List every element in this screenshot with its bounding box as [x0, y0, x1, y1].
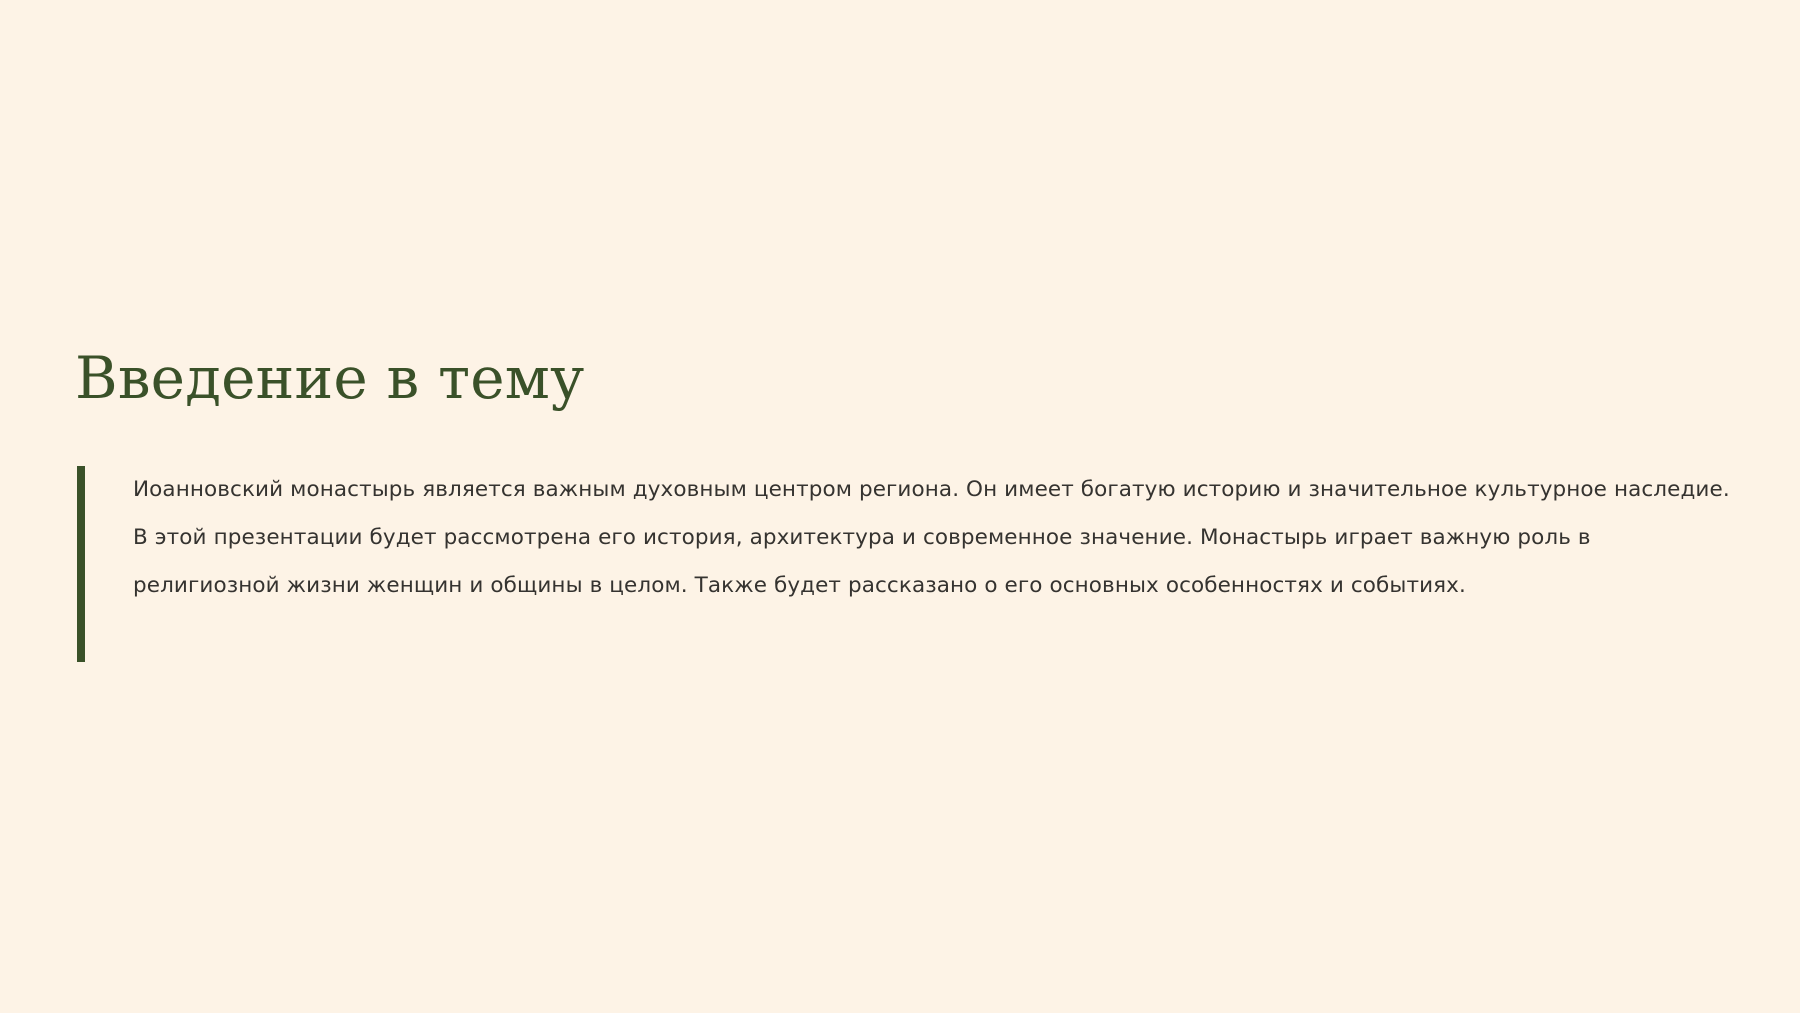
page-title: Введение в тему	[75, 348, 584, 409]
slide-canvas: Введение в тему Иоанновский монастырь яв…	[0, 0, 1800, 1013]
intro-paragraph: Иоанновский монастырь является важным ду…	[85, 466, 1737, 662]
intro-text-block: Иоанновский монастырь является важным ду…	[77, 466, 1737, 662]
accent-bar	[77, 466, 85, 662]
